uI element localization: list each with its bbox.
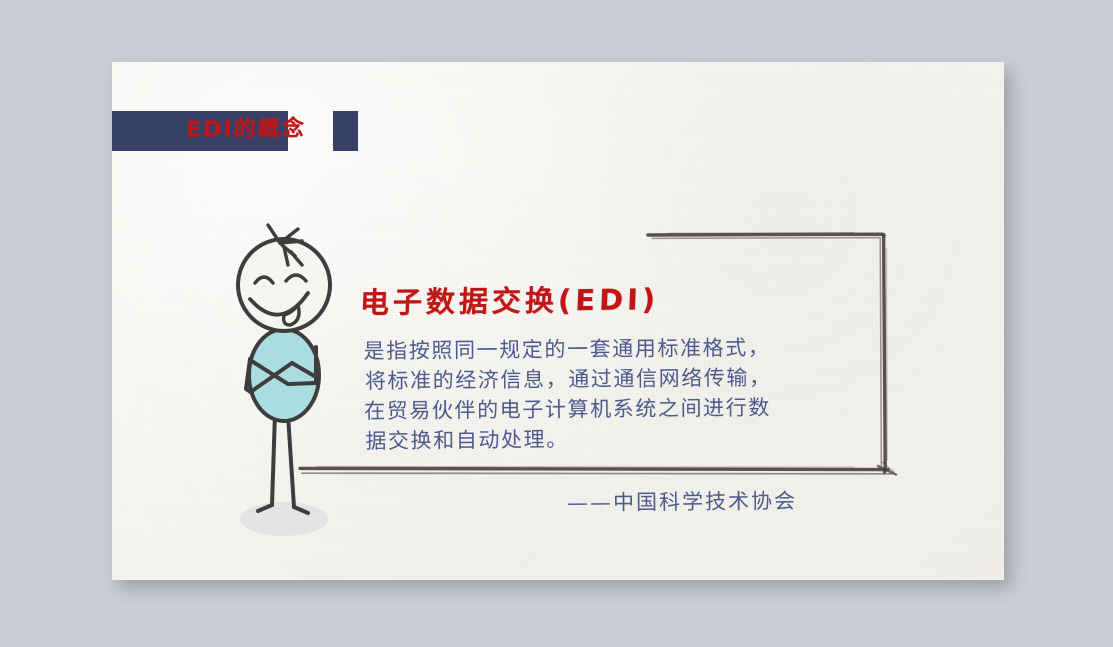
slide-canvas: EDI的概念 电子数据交换(EDI) — [0, 0, 1113, 647]
body-line: 在贸易伙伴的电子计算机系统之间进行数 — [364, 392, 869, 426]
slide-title-band: EDI的概念 — [112, 111, 358, 151]
content-headline: 电子数据交换(EDI) — [359, 276, 660, 322]
body-line: 将标准的经济信息，通过通信网络传输， — [365, 362, 869, 396]
body-line: 据交换和自动处理。 — [365, 422, 869, 456]
slide-sheet: EDI的概念 电子数据交换(EDI) — [112, 62, 1004, 580]
figure-torso — [249, 329, 319, 421]
body-line: 是指按照同一规定的一套通用标准格式， — [363, 332, 868, 366]
page-title: EDI的概念 — [185, 109, 307, 150]
title-band-block-right — [333, 111, 358, 151]
figure-ground-shadow — [240, 502, 328, 536]
content-attribution: ——中国科学技术协会 — [567, 485, 797, 517]
figure-legs — [258, 413, 308, 513]
content-body: 是指按照同一规定的一套通用标准格式， 将标准的经济信息，通过通信网络传输， 在贸… — [363, 332, 869, 456]
stick-figure-character — [222, 217, 362, 537]
